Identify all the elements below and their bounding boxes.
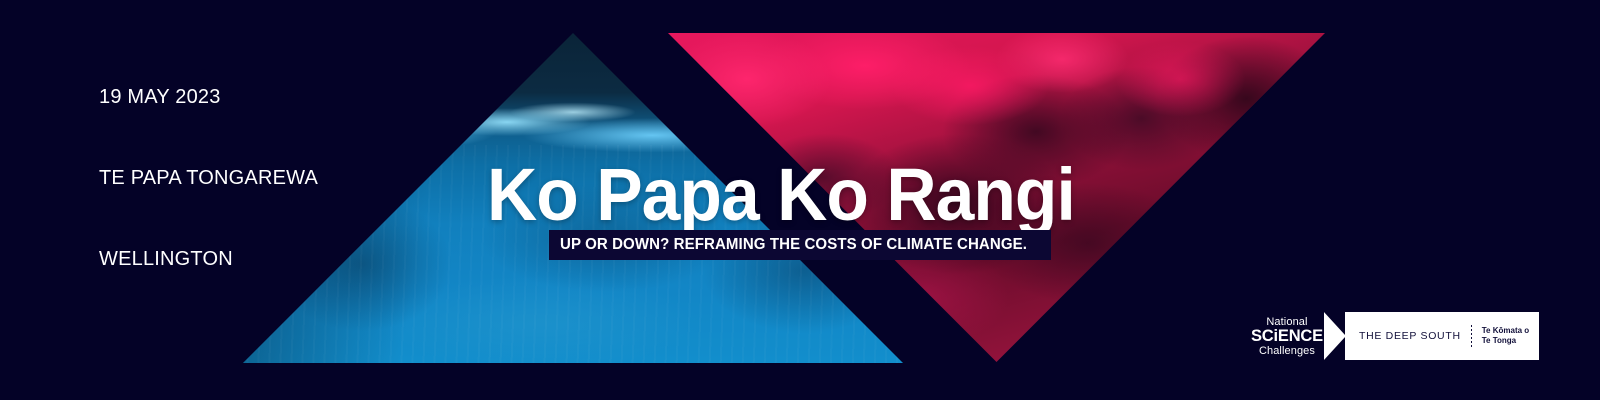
logo-lockup[interactable]: National SCiENCE Challenges THE DEEP SOU… xyxy=(1251,312,1539,360)
event-venue: TE PAPA TONGAREWA xyxy=(99,165,318,192)
national-science-challenges-logo: National SCiENCE Challenges xyxy=(1251,312,1325,360)
logo-divider xyxy=(1471,325,1472,347)
chevron-right-icon xyxy=(1324,312,1346,360)
event-date: 19 MAY 2023 xyxy=(99,84,318,111)
event-subtitle: UP OR DOWN? REFRAMING THE COSTS OF CLIMA… xyxy=(560,236,1027,254)
subtitle-band: UP OR DOWN? REFRAMING THE COSTS OF CLIMA… xyxy=(549,230,1051,260)
event-city: WELLINGTON xyxy=(99,246,318,273)
nsc-line-science: SCiENCE xyxy=(1251,328,1323,345)
maori-line-1: Te Kōmata o xyxy=(1482,326,1529,335)
event-details: 19 MAY 2023 TE PAPA TONGAREWA WELLINGTON xyxy=(99,30,318,327)
deep-south-logo-panel: THE DEEP SOUTH Te Kōmata o Te Tonga xyxy=(1345,312,1539,360)
maori-line-2: Te Tonga xyxy=(1482,336,1516,345)
nsc-line-challenges: Challenges xyxy=(1259,345,1315,357)
programme-name: THE DEEP SOUTH xyxy=(1359,330,1461,342)
programme-name-maori: Te Kōmata o Te Tonga xyxy=(1482,326,1529,346)
event-banner: 19 MAY 2023 TE PAPA TONGAREWA WELLINGTON… xyxy=(0,0,1600,400)
nsc-line-national: National xyxy=(1266,316,1307,328)
event-title: Ko Papa Ko Rangi xyxy=(487,158,1051,232)
